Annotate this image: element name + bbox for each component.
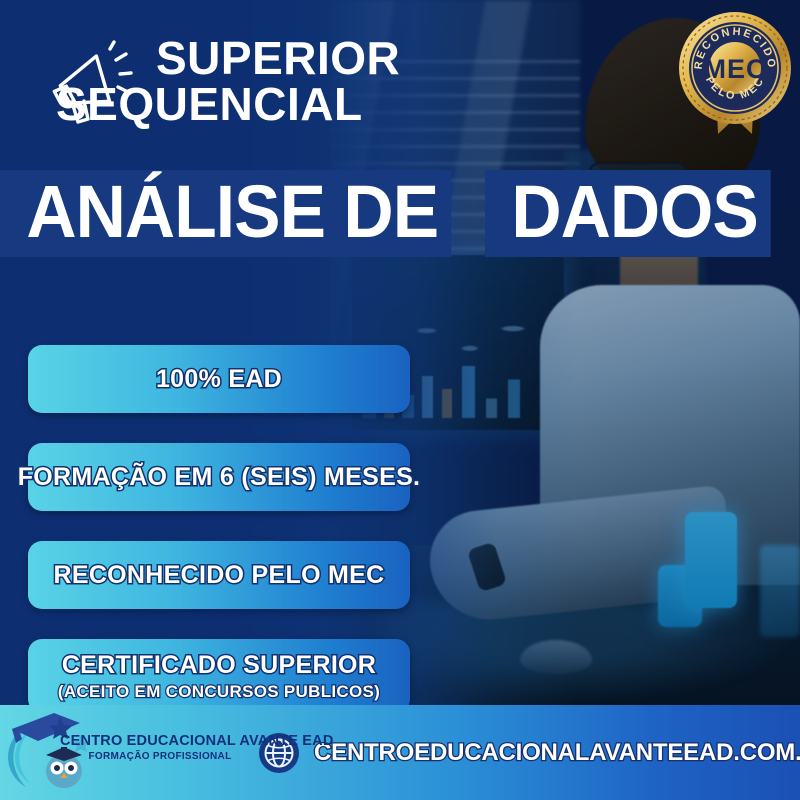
feature-pill-certificate[interactable]: CERTIFICADO SUPERIOR (ACEITO EM CONCURSO… (28, 639, 410, 713)
feature-pill-duration[interactable]: FORMAÇÃO EM 6 (SEIS) MESES. (28, 443, 410, 511)
brand-name: CENTRO EDUCACIONAL AVANTE EAD (60, 733, 260, 749)
feature-label: CERTIFICADO SUPERIOR (62, 651, 376, 680)
footer: CENTRO EDUCACIONAL AVANTE EAD FORMAÇÃO P… (0, 705, 800, 800)
brand-logo: CENTRO EDUCACIONAL AVANTE EAD FORMAÇÃO P… (0, 705, 252, 800)
title-line-2: DADOS (485, 170, 771, 257)
website-row[interactable]: CENTROEDUCACIONALAVANTEEAD.COM.BR (258, 732, 800, 774)
promo-flyer: SUPERIOR SEQUENCIAL ANÁLISE DE DADOS 100… (0, 0, 800, 800)
seal-center-text: MEC (704, 54, 767, 84)
feature-pill-ead[interactable]: 100% EAD (28, 345, 410, 413)
title-line-1: ANÁLISE DE (0, 170, 451, 257)
feature-list: 100% EAD FORMAÇÃO EM 6 (SEIS) MESES. REC… (28, 345, 410, 743)
page-title: ANÁLISE DE DADOS (0, 168, 789, 257)
mec-seal-icon: RECONHECIDO PELO MEC MEC (676, 6, 794, 136)
website-url[interactable]: CENTROEDUCACIONALAVANTEEAD.COM.BR (314, 739, 800, 767)
header-line-1: SUPERIOR (156, 36, 400, 80)
feature-label: FORMAÇÃO EM 6 (SEIS) MESES. (18, 463, 421, 492)
feature-label: RECONHECIDO PELO MEC (53, 561, 384, 590)
feature-label: 100% EAD (156, 365, 282, 394)
header: SUPERIOR SEQUENCIAL (46, 30, 400, 126)
feature-pill-mec[interactable]: RECONHECIDO PELO MEC (28, 541, 410, 609)
feature-sublabel: (ACEITO EM CONCURSOS PUBLICOS) (58, 682, 380, 702)
brand-tagline: FORMAÇÃO PROFISSIONAL (60, 751, 260, 762)
header-line-2: SEQUENCIAL (56, 82, 400, 126)
